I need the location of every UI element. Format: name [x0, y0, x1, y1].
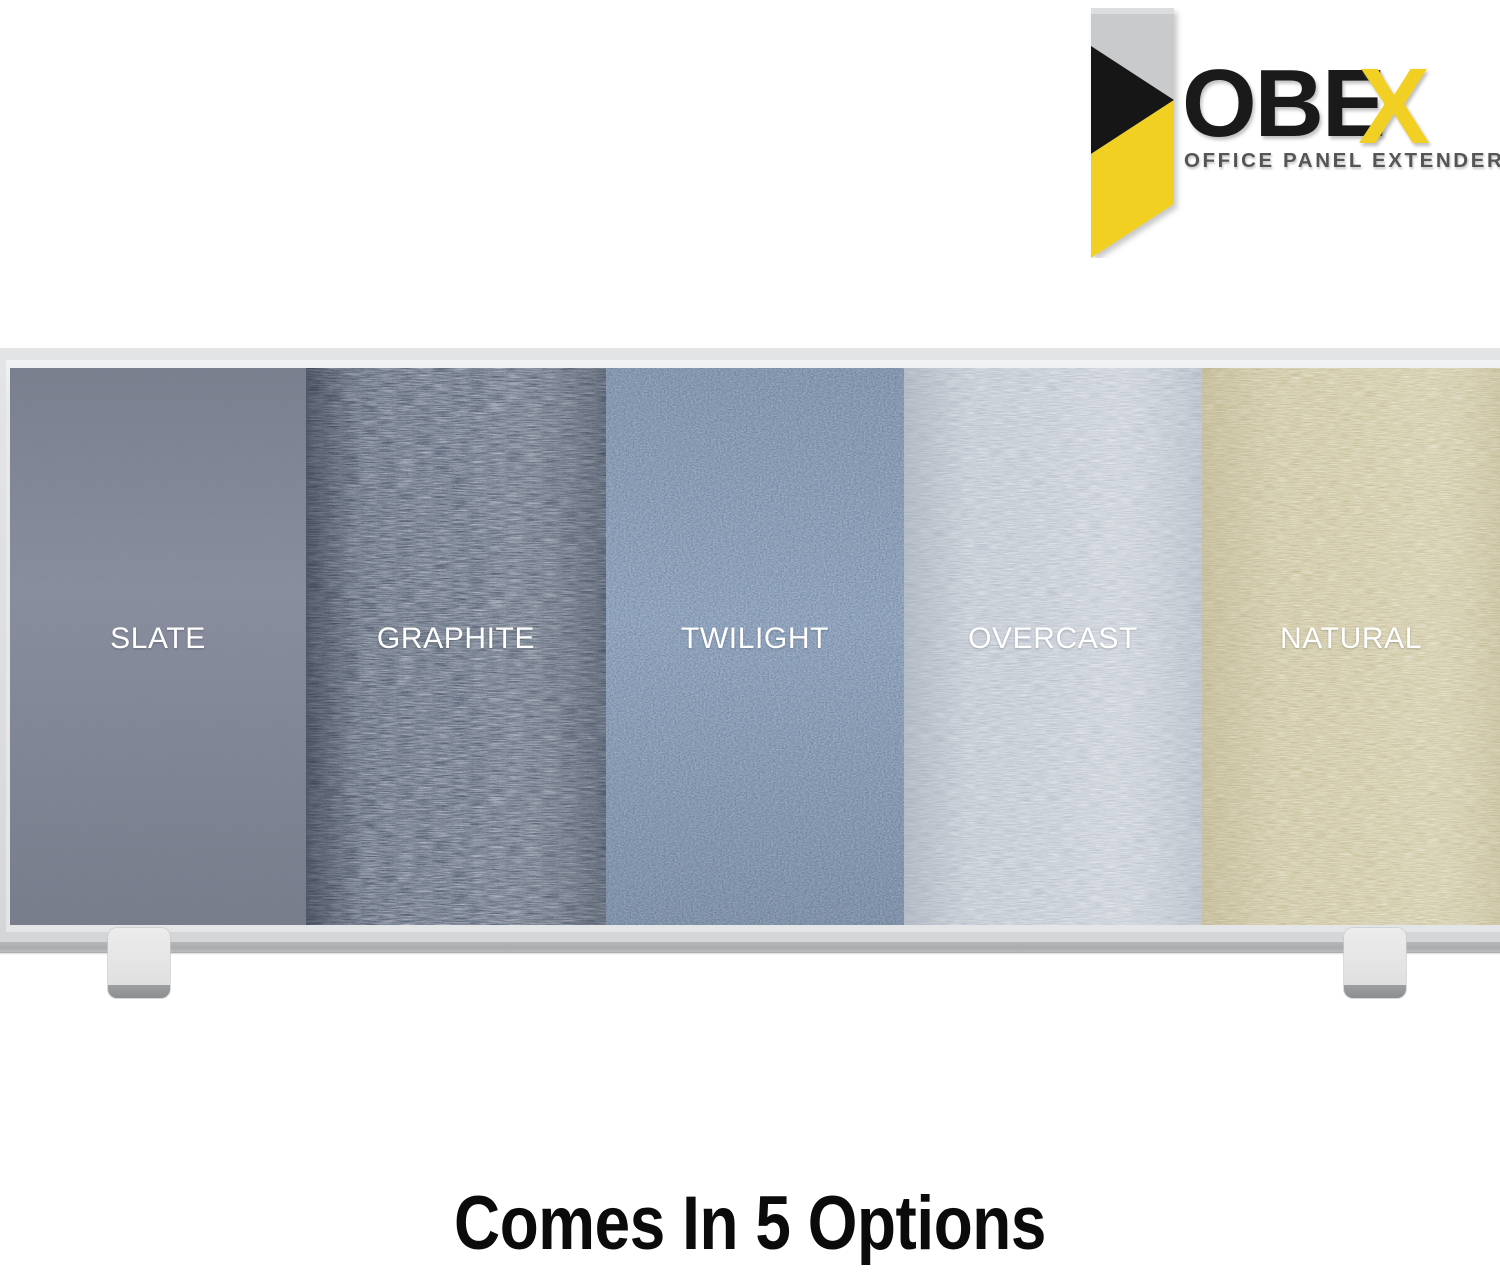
obex-wordmark: OBE X OFFICE PANEL EXTENDERS — [1182, 56, 1472, 196]
wordmark-x-text: X — [1358, 52, 1430, 160]
panel-extender-product: SLATE — [0, 348, 1500, 953]
wordmark-tagline: OFFICE PANEL EXTENDERS — [1184, 150, 1500, 172]
swatch-label-twilight: TWILIGHT — [606, 623, 904, 655]
swatch-twilight[interactable]: TWILIGHT — [606, 368, 904, 925]
swatch-graphite[interactable]: GRAPHITE — [306, 368, 606, 925]
obex-chevron-mark-icon — [1070, 8, 1190, 258]
panel-rail-shadow — [0, 952, 1500, 955]
swatch-overcast[interactable]: OVERCAST — [904, 368, 1202, 925]
panel-foot-right — [1344, 928, 1406, 998]
swatch-label-natural: NATURAL — [1202, 623, 1500, 655]
swatch-label-slate: SLATE — [10, 623, 306, 655]
panel-foot-left — [108, 928, 170, 998]
swatch-label-overcast: OVERCAST — [904, 623, 1202, 655]
swatch-slate[interactable]: SLATE — [10, 368, 306, 925]
swatch-natural[interactable]: NATURAL — [1202, 368, 1500, 925]
wordmark-obe-text: OBE — [1182, 56, 1384, 152]
obex-logo: OBE X OFFICE PANEL EXTENDERS — [1070, 8, 1470, 258]
fabric-swatch-strip: SLATE — [10, 368, 1500, 925]
caption-text: Comes In 5 Options — [120, 1183, 1380, 1265]
product-swatch-graphic: OBE X OFFICE PANEL EXTENDERS — [0, 0, 1500, 1283]
swatch-label-graphite: GRAPHITE — [306, 623, 606, 655]
